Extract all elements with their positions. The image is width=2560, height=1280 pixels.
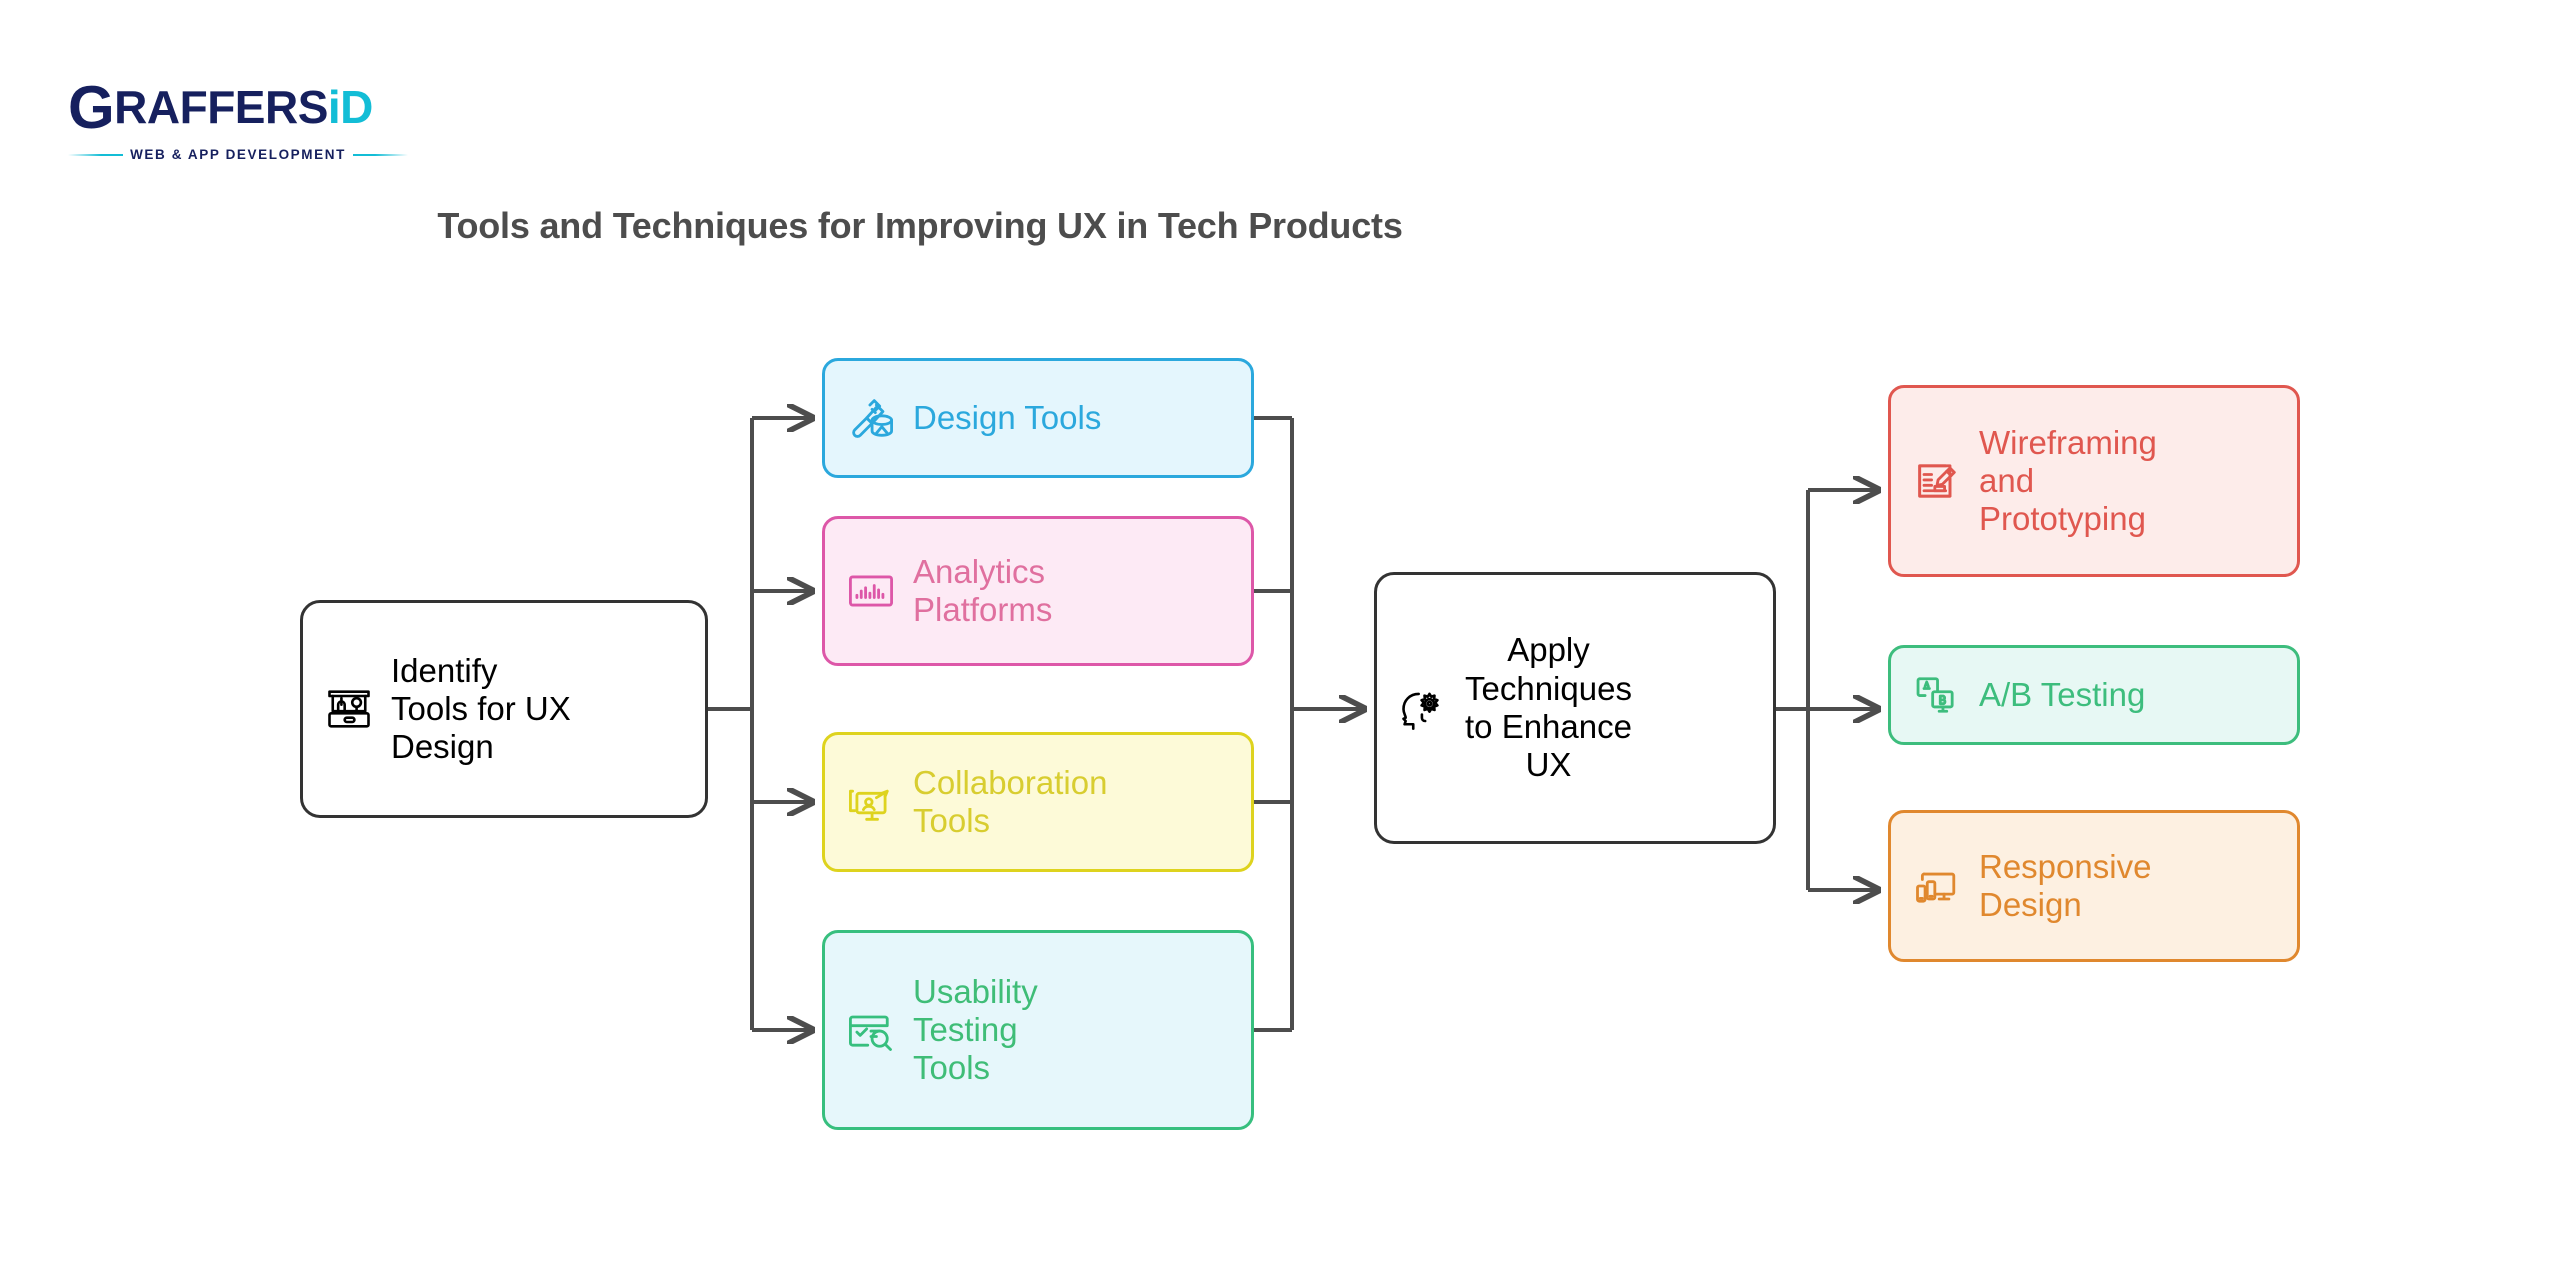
browser-search-icon xyxy=(845,1004,897,1056)
head-gear-icon xyxy=(1397,682,1449,734)
node-wireframing-prototyping[interactable]: Wireframing and Prototyping xyxy=(1888,385,2300,577)
node-responsive-design[interactable]: Responsive Design xyxy=(1888,810,2300,962)
node-usability-testing-tools[interactable]: Usability Testing Tools xyxy=(822,930,1254,1130)
node-label: A/B Testing xyxy=(1979,676,2145,714)
node-label: Identify Tools for UX Design xyxy=(391,652,571,767)
wireframe-pencil-icon xyxy=(1911,455,1963,507)
node-design-tools[interactable]: Design Tools xyxy=(822,358,1254,478)
node-ab-testing[interactable]: A/B Testing xyxy=(1888,645,2300,745)
screen-share-icon xyxy=(845,776,897,828)
node-label: Usability Testing Tools xyxy=(913,973,1038,1088)
paintbrush-icon xyxy=(845,392,897,444)
node-label: Apply Techniques to Enhance UX xyxy=(1465,631,1632,784)
node-label: Collaboration Tools xyxy=(913,764,1107,841)
node-identify-tools[interactable]: Identify Tools for UX Design xyxy=(300,600,708,818)
node-label: Design Tools xyxy=(913,399,1101,437)
devices-icon xyxy=(1911,860,1963,912)
node-label: Analytics Platforms xyxy=(913,553,1052,630)
node-label: Responsive Design xyxy=(1979,848,2151,925)
node-analytics-platforms[interactable]: Analytics Platforms xyxy=(822,516,1254,666)
node-collaboration-tools[interactable]: Collaboration Tools xyxy=(822,732,1254,872)
toolbox-icon xyxy=(323,683,375,735)
ab-screens-icon xyxy=(1911,669,1963,721)
node-apply-techniques[interactable]: Apply Techniques to Enhance UX xyxy=(1374,572,1776,844)
node-label: Wireframing and Prototyping xyxy=(1979,424,2157,539)
flowchart: Identify Tools for UX Design Design Tool… xyxy=(0,0,2560,1280)
bar-chart-icon xyxy=(845,565,897,617)
